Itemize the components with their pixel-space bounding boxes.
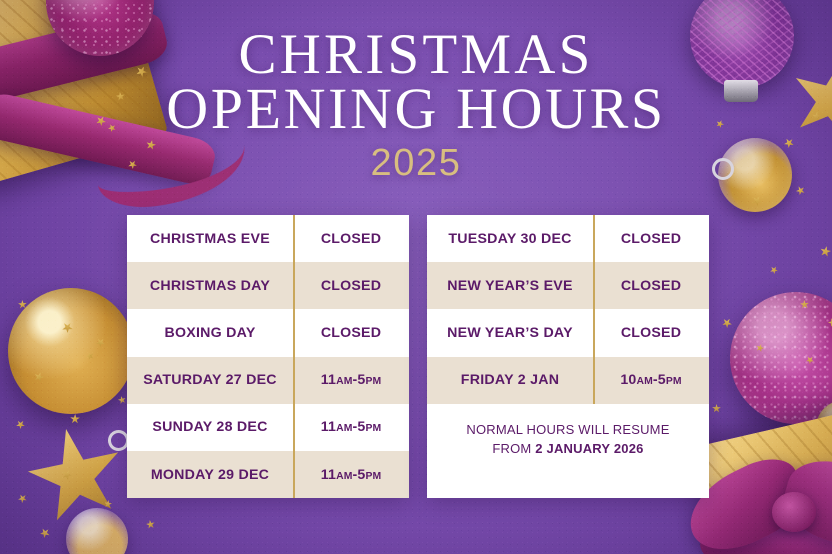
table-row: FRIDAY 2 JAN10AM-5PM <box>427 357 709 404</box>
table-row: NEW YEAR’S EVECLOSED <box>427 262 709 309</box>
table-row: NEW YEAR’S DAYCLOSED <box>427 309 709 356</box>
hours-value: 10AM-5PM <box>620 372 681 388</box>
hours-value: CLOSED <box>621 231 681 247</box>
title-year: 2025 <box>0 142 832 185</box>
hours-cell: CLOSED <box>593 262 709 309</box>
schedule-table-left: CHRISTMAS EVECLOSEDCHRISTMAS DAYCLOSEDBO… <box>127 215 409 498</box>
day-label: BOXING DAY <box>127 309 293 356</box>
hours-cell: CLOSED <box>293 309 409 356</box>
hours-value: CLOSED <box>321 231 381 247</box>
table-row: SATURDAY 27 DEC11AM-5PM <box>127 357 409 404</box>
table-row: BOXING DAYCLOSED <box>127 309 409 356</box>
resume-note-line-1: NORMAL HOURS WILL RESUME <box>466 420 669 439</box>
hours-cell: CLOSED <box>293 262 409 309</box>
table-row: TUESDAY 30 DECCLOSED <box>427 215 709 262</box>
table-row: MONDAY 29 DEC11AM-5PM <box>127 451 409 498</box>
hours-cell: CLOSED <box>593 309 709 356</box>
table-row: SUNDAY 28 DEC11AM-5PM <box>127 404 409 451</box>
poster-canvas: CHRISTMAS OPENING HOURS 2025 CHRISTMAS E… <box>0 0 832 554</box>
day-label: TUESDAY 30 DEC <box>427 215 593 262</box>
day-label: CHRISTMAS DAY <box>127 262 293 309</box>
resume-note-line-2: FROM 2 JANUARY 2026 <box>492 439 643 458</box>
hours-cell: CLOSED <box>593 215 709 262</box>
title-line-1: CHRISTMAS <box>0 28 832 82</box>
day-label: FRIDAY 2 JAN <box>427 357 593 404</box>
hours-value: 11AM-5PM <box>321 419 382 435</box>
hours-value: CLOSED <box>321 278 381 294</box>
hours-cell: 10AM-5PM <box>593 357 709 404</box>
resume-note: NORMAL HOURS WILL RESUMEFROM 2 JANUARY 2… <box>427 404 709 475</box>
page-title: CHRISTMAS OPENING HOURS 2025 <box>0 28 832 185</box>
hours-cell: CLOSED <box>293 215 409 262</box>
resume-date: 2 JANUARY 2026 <box>535 441 643 456</box>
schedule-table-right: TUESDAY 30 DECCLOSEDNEW YEAR’S EVECLOSED… <box>427 215 709 498</box>
title-line-2: OPENING HOURS <box>0 82 832 136</box>
hours-value: 11AM-5PM <box>321 372 382 388</box>
table-row: CHRISTMAS EVECLOSED <box>127 215 409 262</box>
hours-cell: 11AM-5PM <box>293 404 409 451</box>
day-label: MONDAY 29 DEC <box>127 451 293 498</box>
table-row: CHRISTMAS DAYCLOSED <box>127 262 409 309</box>
hours-cell: 11AM-5PM <box>293 451 409 498</box>
hours-value: CLOSED <box>621 278 681 294</box>
hours-value: CLOSED <box>321 325 381 341</box>
day-label: SUNDAY 28 DEC <box>127 404 293 451</box>
hours-value: CLOSED <box>621 325 681 341</box>
day-label: SATURDAY 27 DEC <box>127 357 293 404</box>
day-label: NEW YEAR’S DAY <box>427 309 593 356</box>
hours-value: 11AM-5PM <box>321 467 382 483</box>
hours-cell: 11AM-5PM <box>293 357 409 404</box>
day-label: NEW YEAR’S EVE <box>427 262 593 309</box>
day-label: CHRISTMAS EVE <box>127 215 293 262</box>
